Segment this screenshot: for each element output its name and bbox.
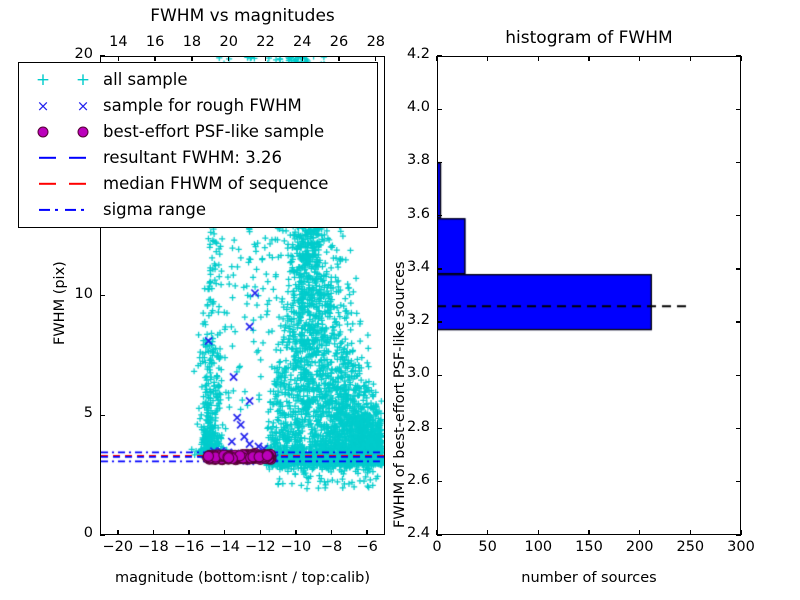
right-panel-right-ytick	[736, 321, 741, 322]
left-panel-top-xtick	[338, 56, 339, 61]
left-panel-top-xtick	[191, 56, 192, 61]
right-panel-right-ytick	[736, 375, 741, 376]
legend-item[interactable]: sigma range	[25, 197, 371, 223]
left-panel-top-xtick	[302, 56, 303, 61]
right-panel-top-xtick	[487, 56, 488, 61]
legend-marker-dashed-icon	[25, 171, 103, 197]
left-panel-top-xtick-label: 16	[146, 34, 164, 50]
right-panel-xtick-label: 200	[626, 539, 654, 555]
right-panel-right-ytick	[736, 268, 741, 269]
right-panel-ytick	[437, 162, 442, 163]
left-panel-top-xtick-label: 26	[330, 34, 348, 50]
legend-item-label: median FHWM of sequence	[103, 171, 328, 197]
right-panel-ytick	[437, 375, 442, 376]
legend-item[interactable]: ××sample for rough FWHM	[25, 93, 371, 119]
left-panel-xtick	[117, 530, 118, 535]
left-panel-ytick-label: 20	[75, 46, 93, 62]
left-panel-xtick	[260, 530, 261, 535]
left-panel-ytick	[100, 415, 105, 416]
legend-item-label: best-effort PSF-like sample	[103, 119, 324, 145]
legend-item-label: resultant FWHM: 3.26	[103, 145, 282, 171]
right-panel-top-xtick	[436, 56, 437, 61]
right-panel-ytick	[437, 321, 442, 322]
right-panel-right-ytick	[736, 162, 741, 163]
legend-item-label: sigma range	[103, 197, 206, 223]
legend-marker-dashed-icon	[25, 145, 103, 171]
left-panel-xtick-label: −12	[245, 539, 276, 555]
right-panel-right-ytick	[736, 55, 741, 56]
right-panel-ytick	[437, 55, 442, 56]
right-panel-ytick-label: 3.0	[407, 365, 430, 381]
legend-marker-dashdot-icon	[25, 197, 103, 223]
right-panel-ytick-label: 2.8	[407, 419, 430, 435]
left-panel-xtick	[224, 530, 225, 535]
right-panel-xtick-label: 300	[727, 539, 755, 555]
left-panel-xtick	[188, 530, 189, 535]
left-panel-xtick-label: −20	[103, 539, 134, 555]
right-panel-top-xtick	[639, 56, 640, 61]
left-panel-xtick-label: −10	[281, 539, 312, 555]
right-panel-xtick-label: 0	[432, 539, 441, 555]
right-panel-right-ytick	[736, 215, 741, 216]
right-panel-top-xtick	[740, 56, 741, 61]
right-panel-right-ytick	[736, 109, 741, 110]
histogram-data-layer	[438, 57, 740, 534]
left-panel-xtick	[295, 530, 296, 535]
left-panel-xtick-label: −14	[209, 539, 240, 555]
right-panel-right-ytick	[736, 481, 741, 482]
legend-item[interactable]: median FHWM of sequence	[25, 171, 371, 197]
legend-marker-cross-icon: ××	[25, 93, 103, 119]
right-panel-ytick-label: 4.0	[407, 99, 430, 115]
right-panel-ylabel: FWHM of best-effort PSF-like sources	[392, 261, 408, 528]
left-panel-ytick-label: 10	[75, 286, 93, 302]
right-panel-title: histogram of FWHM	[437, 28, 741, 48]
right-panel-ytick	[437, 481, 442, 482]
left-panel-ytick	[100, 295, 105, 296]
right-panel-xtick	[639, 530, 640, 535]
left-panel-xtick-label: −8	[321, 539, 342, 555]
left-panel-top-xtick	[265, 56, 266, 61]
right-panel-top-xtick	[588, 56, 589, 61]
legend-item-label: sample for rough FWHM	[103, 93, 302, 119]
left-panel-top-xtick	[228, 56, 229, 61]
left-panel-xtick-label: −6	[357, 539, 378, 555]
left-panel-xtick	[153, 530, 154, 535]
left-panel-ytick-label: 5	[84, 405, 93, 421]
right-panel-top-xtick	[538, 56, 539, 61]
figure-canvas: FWHM vs magnitudes FWHM (pix) magnitude …	[0, 0, 800, 600]
scatter-plot-legend: ++all sample××sample for rough FWHMbest-…	[18, 62, 378, 228]
right-panel-ytick	[437, 428, 442, 429]
right-panel-ytick	[437, 109, 442, 110]
right-panel-xtick	[538, 530, 539, 535]
right-panel-xtick-label: 50	[478, 539, 496, 555]
right-panel-xtick-label: 250	[676, 539, 704, 555]
right-panel-right-ytick	[736, 534, 741, 535]
right-panel-xlabel: number of sources	[437, 570, 741, 586]
right-panel-ytick-label: 3.4	[407, 259, 430, 275]
left-panel-xtick	[331, 530, 332, 535]
left-panel-top-xtick	[118, 56, 119, 61]
left-panel-top-xtick-label: 24	[293, 34, 311, 50]
right-panel-ytick-label: 2.4	[407, 525, 430, 541]
left-panel-top-xtick-label: 14	[109, 34, 127, 50]
left-panel-top-xtick-label: 22	[256, 34, 274, 50]
left-panel-xtick-label: −16	[174, 539, 205, 555]
right-panel-top-xtick	[690, 56, 691, 61]
right-panel-ytick-label: 2.6	[407, 472, 430, 488]
right-panel-ytick	[437, 534, 442, 535]
left-panel-top-xtick	[154, 56, 155, 61]
right-panel-ytick	[437, 215, 442, 216]
left-panel-top-xtick-label: 28	[367, 34, 385, 50]
legend-marker-plus-icon: ++	[25, 67, 103, 93]
left-panel-ylabel: FWHM (pix)	[52, 261, 68, 345]
left-panel-xtick-label: −18	[138, 539, 169, 555]
right-panel-ytick-label: 4.2	[407, 46, 430, 62]
left-panel-title: FWHM vs magnitudes	[100, 6, 385, 26]
right-panel-xtick-label: 100	[524, 539, 552, 555]
right-panel-xtick-label: 150	[575, 539, 603, 555]
legend-item[interactable]: ++all sample	[25, 67, 371, 93]
left-panel-ytick-label: 0	[84, 525, 93, 541]
left-panel-ytick	[100, 55, 105, 56]
right-panel-ytick-label: 3.2	[407, 312, 430, 328]
right-panel-ytick-label: 3.8	[407, 152, 430, 168]
legend-item-label: all sample	[103, 67, 188, 93]
right-panel-ytick-label: 3.6	[407, 206, 430, 222]
right-panel-xtick	[487, 530, 488, 535]
right-panel-xtick	[588, 530, 589, 535]
left-panel-top-xtick	[375, 56, 376, 61]
right-panel-ytick	[437, 268, 442, 269]
left-panel-xtick	[366, 530, 367, 535]
right-panel-right-ytick	[736, 428, 741, 429]
left-panel-xlabel: magnitude (bottom:isnt / top:calib)	[100, 570, 385, 586]
legend-marker-circle-icon	[25, 119, 103, 145]
left-panel-top-xtick-label: 18	[183, 34, 201, 50]
right-panel-xtick	[690, 530, 691, 535]
legend-item[interactable]: resultant FWHM: 3.26	[25, 145, 371, 171]
left-panel-top-xtick-label: 20	[219, 34, 237, 50]
legend-item[interactable]: best-effort PSF-like sample	[25, 119, 371, 145]
left-panel-ytick	[100, 534, 105, 535]
